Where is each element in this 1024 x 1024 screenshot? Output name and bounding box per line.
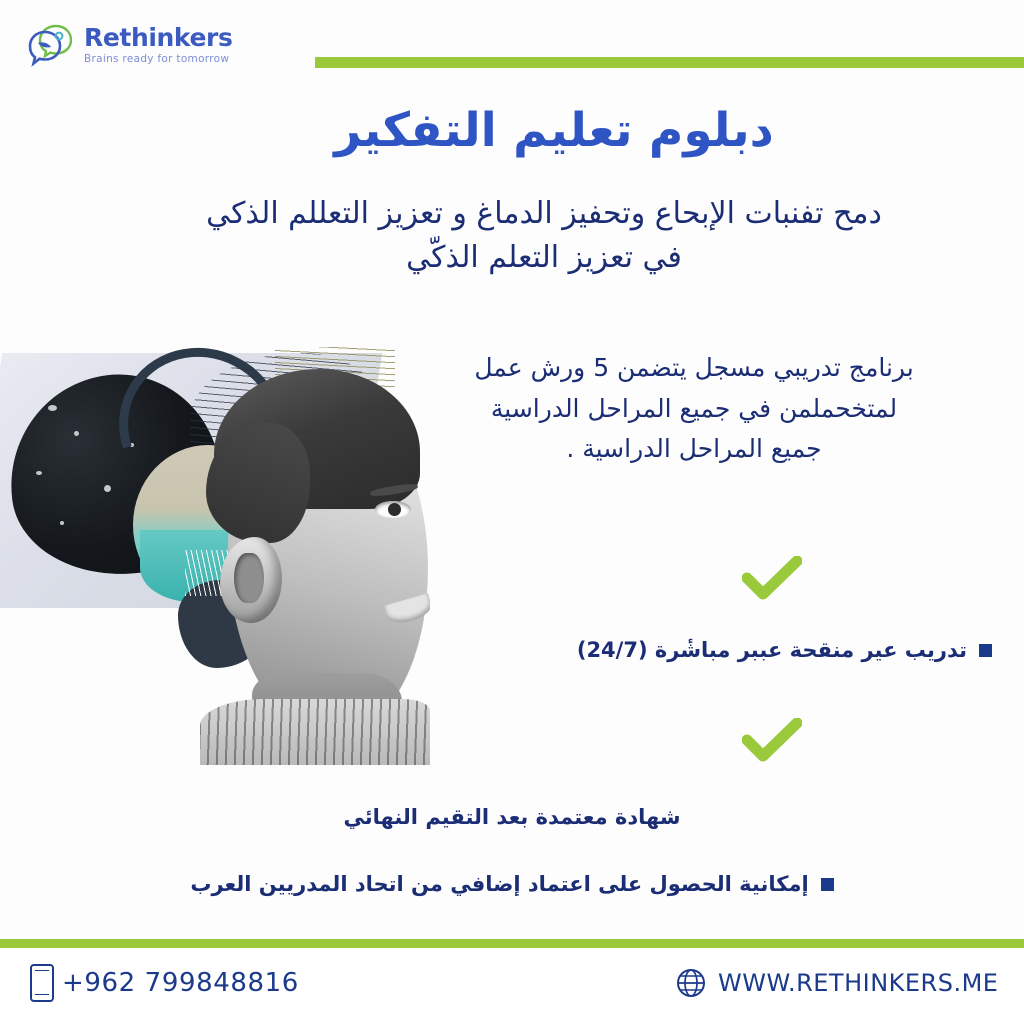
subtitle-line-2: في تعزيز التعلم الذكّي: [104, 236, 984, 280]
header-divider-rule: [315, 57, 1024, 68]
contact-phone[interactable]: +962 799848816: [30, 964, 299, 1002]
brand-logo[interactable]: Rethinkers Brains ready for tomorrow: [28, 22, 232, 68]
collage-speck: [104, 485, 111, 492]
description-line-3: جميع المراحل الدراسية .: [424, 429, 964, 470]
subtitle-line-1: دمح تفنبات الإبحاع وتحفيز الدماغ و تعزيز…: [206, 196, 882, 231]
page-subtitle: دمح تفنبات الإبحاع وتحفيز الدماغ و تعزيز…: [104, 192, 984, 279]
poster-footer: +962 799848816 WWW.RETHINKERS.ME: [0, 948, 1024, 1024]
description-paragraph: برنامج تدريبي مسجل يتضمن 5 ورش عمل لمتخح…: [424, 348, 964, 470]
phone-number: +962 799848816: [62, 968, 299, 998]
globe-icon: [676, 968, 706, 998]
boy-collage-photo: [0, 335, 430, 765]
feature-item-3-label: إمكانية الحصول على اعتماد إضافي من اتحاد…: [190, 872, 808, 896]
mobile-phone-icon: [30, 964, 54, 1002]
poster-header: Rethinkers Brains ready for tomorrow: [0, 0, 1024, 92]
feature-item-2-label: شهادة معتمدة بعد التقيم النهائي: [343, 805, 680, 829]
feature-item-2: شهادة معتمدة بعد التقيم النهائي: [0, 805, 1024, 829]
boy-pupil: [388, 503, 401, 516]
green-checkmark-icon: [742, 718, 802, 764]
boy-shirt: [200, 699, 430, 765]
square-bullet-icon: [979, 644, 992, 657]
website-url: WWW.RETHINKERS.ME: [718, 969, 998, 997]
brand-tagline: Brains ready for tomorrow: [84, 54, 232, 65]
contact-website[interactable]: WWW.RETHINKERS.ME: [676, 968, 998, 998]
double-speech-bubble-icon: [28, 22, 74, 68]
collage-speck: [48, 405, 57, 411]
collage-speck: [74, 431, 79, 436]
brand-logo-text: Rethinkers Brains ready for tomorrow: [84, 25, 232, 65]
collage-speck: [60, 521, 64, 525]
feature-item-1: تدريب عير منقحة عببر مباشٔرة (24/7): [577, 638, 992, 662]
description-line-1: برنامج تدريبي مسجل يتضمن 5 ورش عمل: [424, 348, 964, 389]
feature-item-3: إمكانية الحصول على اعتماد إضافي من اتحاد…: [0, 872, 1024, 896]
footer-divider-rule: [0, 939, 1024, 948]
page-title: دبلوم تعليم التفكير: [124, 104, 984, 158]
square-bullet-icon: [821, 878, 834, 891]
poster-canvas: Rethinkers Brains ready for tomorrow دبل…: [0, 0, 1024, 1024]
boy-ear-inner: [234, 553, 264, 603]
description-line-2: لمتخحملمن في جميع المراحل الدراسية: [424, 389, 964, 430]
brand-name: Rethinkers: [84, 25, 232, 50]
boy-head: [190, 361, 430, 761]
collage-speck: [36, 471, 42, 475]
feature-item-1-label: تدريب عير منقحة عببر مباشٔرة (24/7): [577, 638, 967, 662]
green-checkmark-icon: [742, 556, 802, 602]
